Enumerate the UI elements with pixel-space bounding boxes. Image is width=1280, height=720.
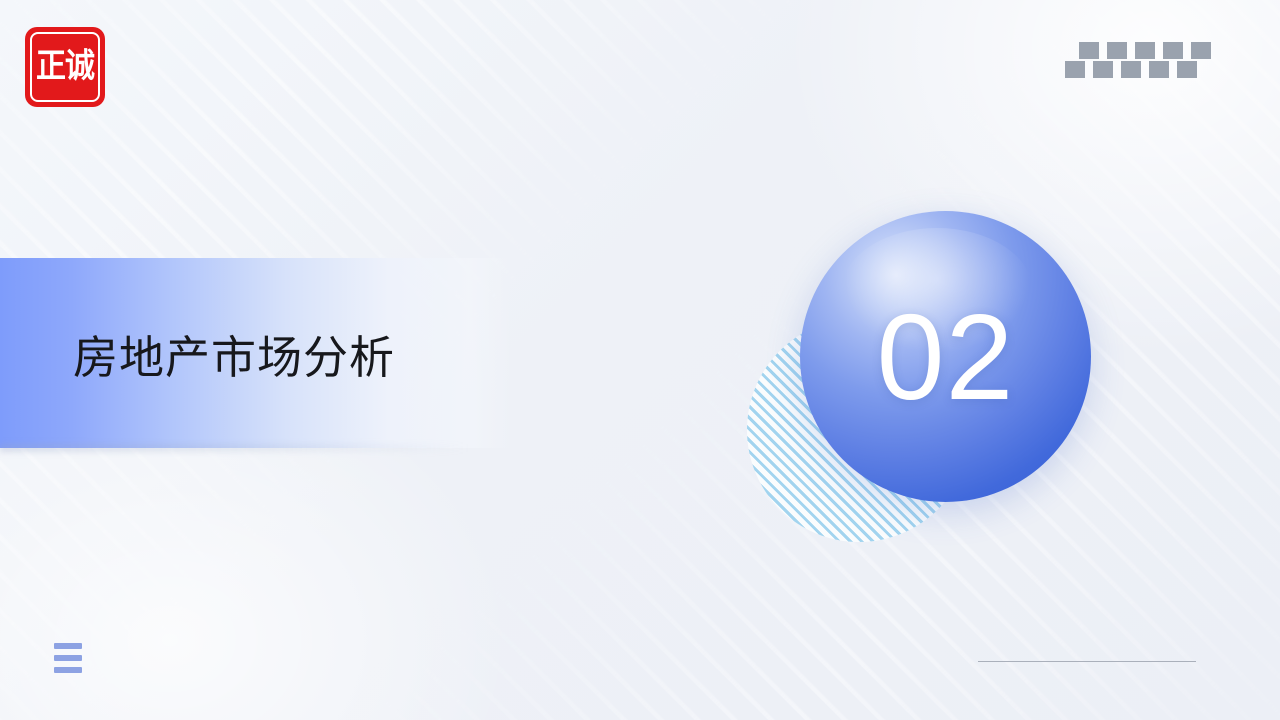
checker-square bbox=[1149, 61, 1169, 78]
checker-square bbox=[1163, 42, 1183, 59]
list-icon-bar bbox=[54, 667, 82, 673]
checker-square bbox=[1107, 42, 1127, 59]
list-icon[interactable] bbox=[54, 643, 82, 673]
checker-square bbox=[1121, 61, 1141, 78]
checker-square bbox=[1065, 61, 1085, 78]
section-number: 02 bbox=[877, 296, 1015, 418]
company-logo: 正诚 bbox=[25, 27, 105, 107]
checker-pattern bbox=[1065, 42, 1195, 78]
checker-square bbox=[1093, 61, 1113, 78]
list-icon-bar bbox=[54, 655, 82, 661]
checker-square bbox=[1191, 42, 1211, 59]
checker-square bbox=[1079, 42, 1099, 59]
checker-square bbox=[1135, 42, 1155, 59]
title-banner: 房地产市场分析 bbox=[0, 258, 512, 448]
list-icon-bar bbox=[54, 643, 82, 649]
page-title: 房地产市场分析 bbox=[73, 321, 395, 386]
slide-root: 正诚 房地产市场分析 02 bbox=[0, 0, 1280, 720]
title-banner-shadow bbox=[0, 444, 470, 452]
logo-text: 正诚 bbox=[36, 50, 94, 84]
footer-rule bbox=[978, 661, 1196, 662]
logo-inner-border: 正诚 bbox=[30, 32, 100, 102]
section-number-sphere: 02 bbox=[800, 211, 1091, 502]
checker-square bbox=[1177, 61, 1197, 78]
